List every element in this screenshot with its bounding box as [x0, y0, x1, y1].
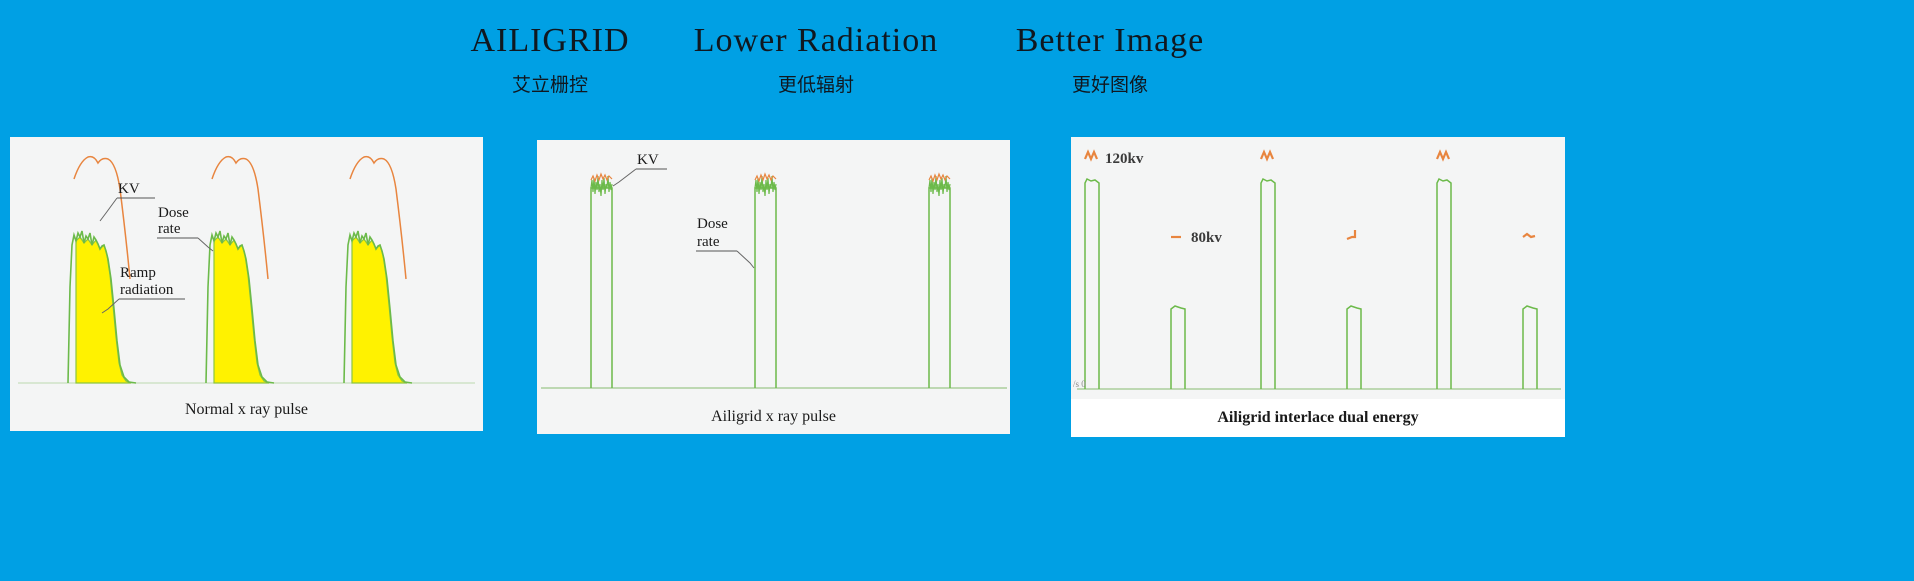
dose-rate-square-2: [755, 188, 776, 388]
annotation-ramp-line2: radiation: [120, 282, 174, 298]
panel-normal-x-ray-pulse: KV Dose rate Ramp radiation Normal x ray…: [10, 137, 483, 431]
panel-interlace-dual-energy: 120kv 80kv /s 0 Ailigrid interlace dual …: [1071, 137, 1565, 437]
header-image-zh: 更好图像: [930, 70, 1290, 97]
square-pulse-3: [929, 174, 950, 388]
header-brand-en: AILIGRID: [430, 22, 670, 60]
square-pulse-2: [755, 174, 776, 388]
header-column-image: Better Image 更好图像: [930, 22, 1290, 97]
annotation-kv-label: KV: [637, 152, 659, 168]
pulse-group-3: [344, 157, 412, 383]
panel-ailigrid-x-ray-pulse: KV Dose rate Ailigrid x ray pulse: [537, 140, 1010, 434]
annotation-dose-rate: Dose rate: [157, 205, 213, 251]
pulse-80kv-2: [1347, 306, 1361, 389]
annotation-kv: KV: [613, 152, 667, 186]
annotation-kv-label: KV: [118, 181, 140, 197]
pulse-group-2: [206, 157, 274, 383]
annotation-dose-rate-line2: rate: [697, 234, 720, 250]
panel-ailigrid-caption: Ailigrid x ray pulse: [537, 408, 1010, 426]
label-120kv: 120kv: [1105, 151, 1144, 167]
annotation-dose-rate-line1: Dose: [697, 216, 728, 232]
chart-normal-x-ray-pulse: KV Dose rate Ramp radiation: [10, 137, 483, 392]
pulse-120kv-2: [1261, 179, 1275, 389]
pulse-120kv-3: [1437, 179, 1451, 389]
axis-label-origin: /s 0: [1073, 379, 1086, 389]
kv-marker-120kv-3: [1437, 152, 1449, 159]
annotation-dose-rate: Dose rate: [696, 216, 754, 268]
label-80kv: 80kv: [1191, 230, 1222, 246]
pulse-80kv-1: [1171, 306, 1185, 389]
ramp-radiation-area-1: [76, 237, 131, 383]
annotation-dose-rate-line1: Dose: [158, 205, 189, 221]
pulse-120kv-1: [1085, 179, 1099, 389]
header-column-brand: AILIGRID 艾立栅控: [430, 22, 670, 97]
annotation-dose-rate-line2: rate: [158, 221, 181, 237]
dose-rate-square-1: [591, 188, 612, 388]
kv-marker-120kv-2: [1261, 152, 1273, 159]
panel-normal-caption: Normal x ray pulse: [10, 401, 483, 419]
kv-marker-80kv-2: [1347, 230, 1355, 239]
panel-dual-energy-caption: Ailigrid interlace dual energy: [1071, 399, 1565, 437]
pulse-80kv-3: [1523, 306, 1537, 389]
annotation-ramp-line1: Ramp: [120, 265, 156, 281]
dose-rate-square-3: [929, 188, 950, 388]
kv-noise-2: [755, 174, 776, 181]
ramp-radiation-area-3: [352, 237, 407, 383]
kv-noise-1: [591, 174, 612, 181]
header-image-en: Better Image: [930, 22, 1290, 60]
square-pulse-1: [591, 174, 612, 388]
kv-noise-3: [929, 174, 950, 181]
header-banner: AILIGRID 艾立栅控 Lower Radiation 更低辐射 Bette…: [0, 22, 1914, 122]
chart-interlace-dual-energy: 120kv 80kv /s 0: [1071, 137, 1565, 399]
ramp-radiation-area-2: [214, 237, 269, 383]
header-brand-zh: 艾立栅控: [430, 70, 670, 97]
annotation-kv: KV: [100, 181, 155, 221]
kv-marker-80kv-3: [1523, 234, 1535, 237]
kv-marker-120kv-1: [1085, 152, 1097, 159]
chart-ailigrid-x-ray-pulse: KV Dose rate: [537, 140, 1010, 398]
